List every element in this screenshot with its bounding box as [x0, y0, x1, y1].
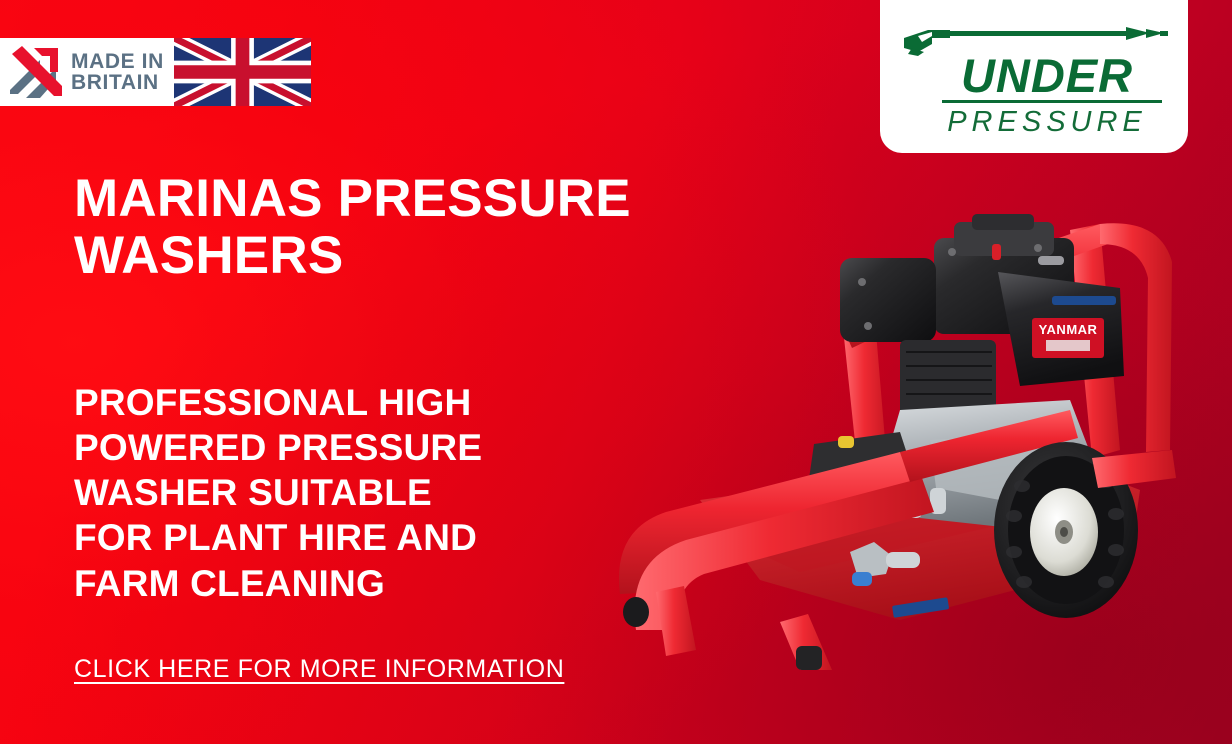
made-in-britain-line1: MADE IN: [71, 51, 164, 72]
brand-logo-line1: UNDER: [898, 54, 1170, 97]
subcopy-line-2: POWERED PRESSURE: [74, 425, 594, 470]
brand-logo-card[interactable]: UNDER PRESSURE: [880, 0, 1188, 153]
subcopy-line-4: FOR PLANT HIRE AND: [74, 515, 594, 560]
marketing-banner: YANMAR: [0, 0, 1232, 744]
brand-logo-line2: PRESSURE: [898, 107, 1170, 137]
subcopy-line-3: WASHER SUITABLE: [74, 470, 594, 515]
made-in-britain-badge: MADE IN BRITAIN: [0, 38, 311, 106]
subcopy-line-1: PROFESSIONAL HIGH: [74, 380, 594, 425]
union-jack-flag-icon: [174, 38, 311, 106]
made-in-britain-line2: BRITAIN: [71, 72, 164, 93]
page-title: MARINAS PRESSURE WASHERS: [74, 170, 794, 284]
brand-logo-inner: UNDER PRESSURE: [880, 0, 1188, 153]
headline-line-2: WASHERS: [74, 227, 794, 284]
made-in-britain-arrow-icon: [10, 46, 62, 98]
headline-line-1: MARINAS PRESSURE: [74, 170, 794, 227]
made-in-britain-white-panel: MADE IN BRITAIN: [0, 38, 174, 106]
subheading-copy: PROFESSIONAL HIGH POWERED PRESSURE WASHE…: [74, 380, 594, 606]
more-information-link[interactable]: CLICK HERE FOR MORE INFORMATION: [74, 655, 564, 684]
subcopy-line-5: FARM CLEANING: [74, 561, 594, 606]
made-in-britain-text: MADE IN BRITAIN: [71, 51, 164, 93]
svg-text:YANMAR: YANMAR: [1039, 322, 1098, 337]
